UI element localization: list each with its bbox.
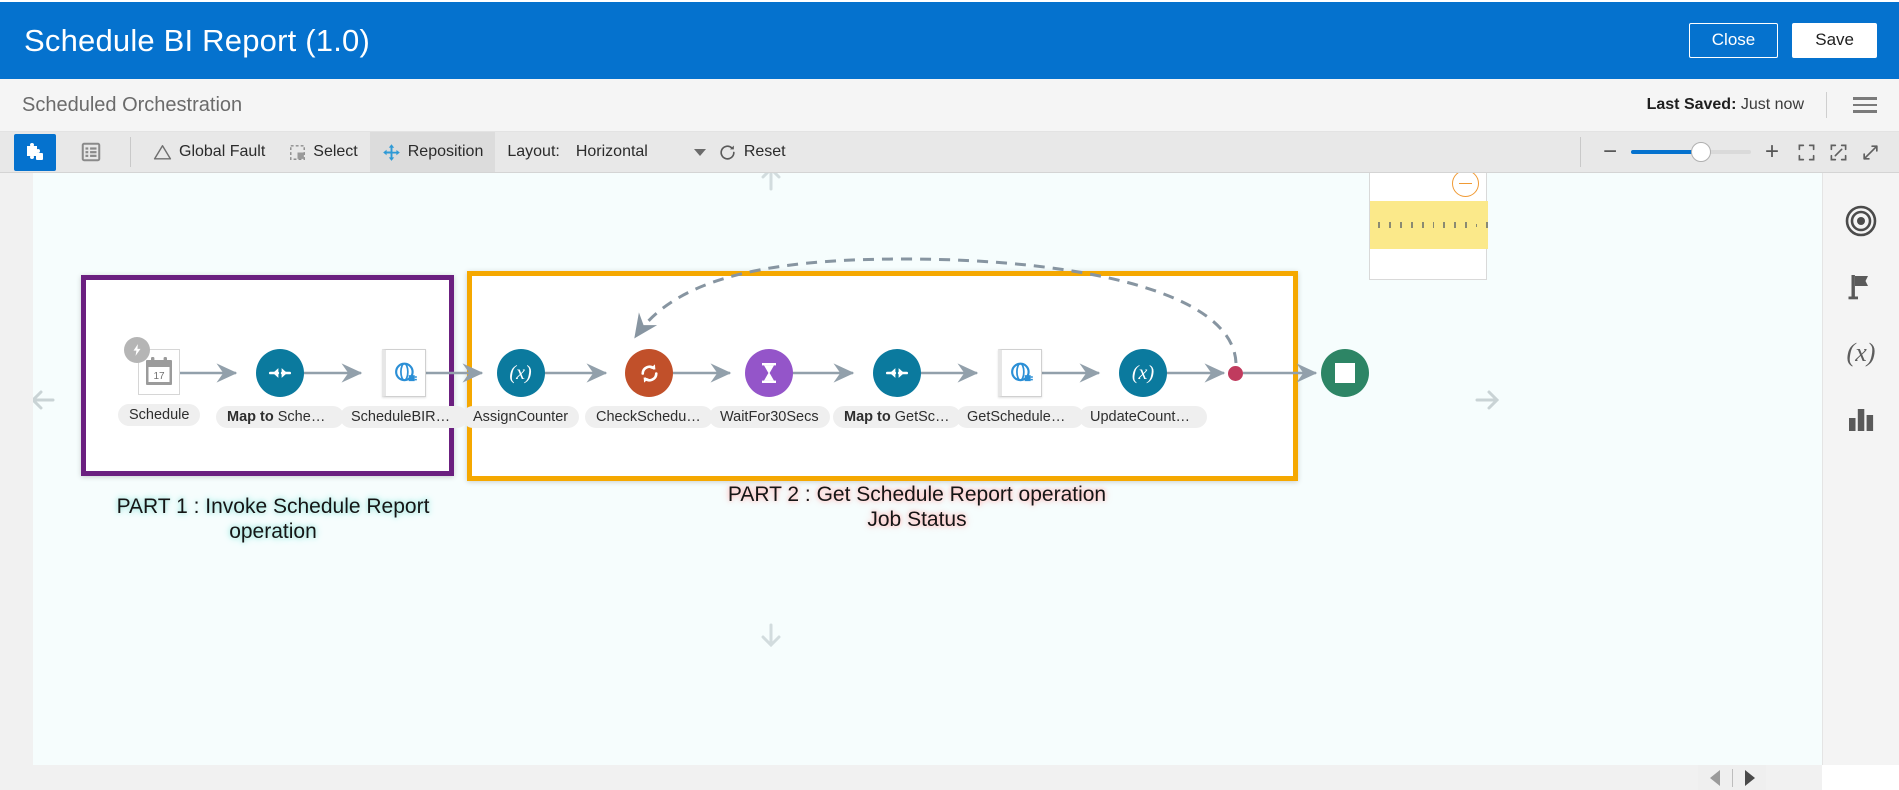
node-schedulebireport-label: ScheduleBIReport	[340, 406, 468, 428]
scroll-up-hint-icon[interactable]	[751, 173, 791, 195]
part1-annotation: PART 1 : Invoke Schedule Report operatio…	[83, 495, 463, 545]
map-transform-icon[interactable]	[256, 349, 304, 397]
reset-button[interactable]: Reset	[706, 132, 798, 172]
minimap-node-dot	[1465, 222, 1467, 228]
layout-value: Horizontal	[576, 143, 648, 161]
canvas-bottom-gutter	[0, 765, 1822, 790]
zoom-in-button[interactable]: +	[1757, 140, 1787, 164]
warning-triangle-icon	[153, 143, 172, 162]
node-checkscheduledreport-label: CheckScheduledRep…	[585, 406, 713, 428]
connector-icon[interactable]	[998, 349, 1042, 397]
node-waitfor30secs[interactable]: WaitFor30Secs	[709, 349, 830, 428]
part1-annotation-line1: PART 1 : Invoke Schedule Report	[83, 495, 463, 520]
minimap-node-dot	[1454, 222, 1456, 228]
variable-x-glyph: (x)	[509, 362, 531, 385]
map-target: ScheduleBIR…	[278, 409, 344, 425]
list-icon[interactable]	[70, 134, 112, 171]
schedule-bi-report-editor: Schedule BI Report (1.0) Close Save Sche…	[0, 0, 1899, 790]
node-schedule-label: Schedule	[118, 404, 200, 426]
minimap-node-dot	[1486, 222, 1488, 228]
node-schedule-shape[interactable]: 17	[138, 349, 180, 395]
zoom-out-button[interactable]: −	[1595, 140, 1625, 164]
marquee-select-icon	[289, 144, 306, 161]
node-map-to-schedulebireport[interactable]: Map to ScheduleBIR…	[216, 349, 344, 428]
global-fault-button[interactable]: Global Fault	[141, 132, 277, 172]
triangle-right-icon[interactable]	[1745, 770, 1755, 786]
variable-x-icon[interactable]: (x)	[1839, 331, 1883, 375]
svg-text:17: 17	[154, 371, 166, 382]
select-button[interactable]: Select	[277, 132, 369, 172]
expand-diagonal-icon[interactable]	[1857, 139, 1883, 165]
layout-dropdown[interactable]: Horizontal	[576, 143, 706, 161]
minimap-node-dot	[1433, 222, 1435, 228]
scroll-right-hint-icon[interactable]	[1473, 385, 1513, 415]
node-assigncounter-label: AssignCounter	[462, 406, 579, 428]
flow-canvas[interactable]: 17 Schedule Map to ScheduleBIR…	[33, 173, 1822, 765]
sub-header-right: Last Saved: Just now	[1647, 92, 1881, 118]
minimap-node-dot	[1411, 222, 1413, 228]
reposition-button[interactable]: Reposition	[370, 132, 496, 172]
reset-label: Reset	[744, 143, 786, 161]
minimap[interactable]	[1369, 173, 1487, 280]
minimap-viewport-band[interactable]	[1370, 201, 1488, 249]
node-updatecountervalue-label: UpdateCounterValue	[1079, 406, 1207, 428]
minimap-node-dot	[1476, 224, 1477, 227]
orchestration-type-label: Scheduled Orchestration	[22, 94, 242, 117]
node-getscheduledreport-label: GetScheduledReport…	[956, 406, 1084, 428]
title-bar-actions: Close Save	[1689, 23, 1877, 58]
canvas-left-gutter	[0, 173, 33, 765]
stop-square	[1335, 363, 1355, 383]
sub-header: Scheduled Orchestration Last Saved: Just…	[0, 79, 1899, 132]
reposition-label: Reposition	[408, 143, 484, 161]
connector-icon[interactable]	[382, 349, 426, 397]
right-rail: (x)	[1822, 173, 1899, 765]
scroll-down-hint-icon[interactable]	[751, 623, 791, 653]
part2-annotation-line1: PART 2 : Get Schedule Report operation	[662, 483, 1172, 508]
triangle-left-icon[interactable]	[1710, 770, 1720, 786]
map-transform-icon[interactable]	[873, 349, 921, 397]
minimap-node-dot	[1400, 222, 1402, 228]
minimap-node-dot	[1422, 222, 1424, 228]
header-divider	[1826, 92, 1827, 118]
variable-icon[interactable]: (x)	[497, 349, 545, 397]
scroll-left-hint-icon[interactable]	[33, 385, 59, 415]
layout-label: Layout:	[507, 143, 559, 161]
node-assigncounter[interactable]: (x) AssignCounter	[462, 349, 579, 428]
part2-annotation: PART 2 : Get Schedule Report operation J…	[662, 483, 1172, 533]
global-fault-label: Global Fault	[179, 143, 265, 161]
node-map-to-getschedule[interactable]: Map to GetSchedule.	[833, 349, 961, 428]
reset-refresh-icon	[718, 143, 737, 162]
title-bar: Schedule BI Report (1.0) Close Save	[0, 2, 1899, 79]
loop-icon[interactable]	[625, 349, 673, 397]
bar-chart-icon[interactable]	[1839, 397, 1883, 441]
node-map-to-getschedule-label: Map to GetSchedule.	[833, 406, 961, 428]
actual-size-icon[interactable]	[1825, 139, 1851, 165]
node-getscheduledreport[interactable]: GetScheduledReport…	[956, 349, 1084, 428]
part2-annotation-line2: Job Status	[662, 508, 1172, 533]
toolbar-left-group: Global Fault Select Reposition Layout: H…	[0, 132, 798, 172]
node-loop-end-marker[interactable]	[1228, 366, 1243, 381]
move-cross-icon	[382, 143, 401, 162]
map-prefix: Map to	[844, 409, 895, 425]
node-end[interactable]	[1321, 349, 1369, 397]
stop-icon[interactable]	[1321, 349, 1369, 397]
page-title: Schedule BI Report (1.0)	[24, 23, 370, 59]
hamburger-icon[interactable]	[1849, 93, 1881, 117]
node-map-to-schedulebireport-label: Map to ScheduleBIR…	[216, 406, 344, 428]
map-target: GetSchedule.	[895, 409, 961, 425]
node-schedulebireport[interactable]: ScheduleBIReport	[340, 349, 468, 428]
save-button[interactable]: Save	[1792, 23, 1877, 58]
map-prefix: Map to	[227, 409, 278, 425]
variable-icon[interactable]: (x)	[1119, 349, 1167, 397]
puzzle-icon[interactable]	[14, 134, 56, 171]
last-saved-status: Last Saved: Just now	[1647, 96, 1804, 114]
minimap-node-dot	[1443, 222, 1445, 228]
target-icon[interactable]	[1839, 199, 1883, 243]
toolbar-divider-1	[130, 137, 131, 167]
chevron-down-icon	[694, 149, 706, 156]
zoom-slider[interactable]	[1631, 143, 1751, 161]
loop-end-dot-icon[interactable]	[1228, 366, 1243, 381]
minimap-collapse-icon[interactable]	[1452, 173, 1479, 197]
part1-annotation-line2: operation	[83, 520, 463, 545]
toolbar-divider-2	[1580, 137, 1581, 167]
horizontal-scroll-buttons	[1698, 765, 1766, 790]
minimap-node-dot	[1389, 222, 1391, 228]
zoom-slider-knob[interactable]	[1691, 142, 1711, 162]
last-saved-value: Just now	[1741, 96, 1804, 113]
node-updatecountervalue[interactable]: (x) UpdateCounterValue	[1079, 349, 1207, 428]
last-saved-label: Last Saved:	[1647, 96, 1737, 113]
hourglass-icon[interactable]	[745, 349, 793, 397]
toolbar-zoom-group: − +	[1580, 132, 1899, 172]
select-label: Select	[313, 143, 357, 161]
minimap-node-dot	[1378, 222, 1380, 228]
close-button[interactable]: Close	[1689, 23, 1778, 58]
node-waitfor30secs-label: WaitFor30Secs	[709, 406, 830, 428]
variable-x-glyph: (x)	[1132, 362, 1154, 385]
fit-to-screen-icon[interactable]	[1793, 139, 1819, 165]
canvas-toolbar: Global Fault Select Reposition Layout: H…	[0, 132, 1899, 173]
node-checkscheduledreport[interactable]: CheckScheduledRep…	[585, 349, 713, 428]
zoom-slider-fill	[1631, 150, 1699, 154]
variable-x-glyph: (x)	[1847, 338, 1876, 368]
node-schedule[interactable]: 17 Schedule	[118, 349, 200, 426]
flag-icon[interactable]	[1839, 265, 1883, 309]
